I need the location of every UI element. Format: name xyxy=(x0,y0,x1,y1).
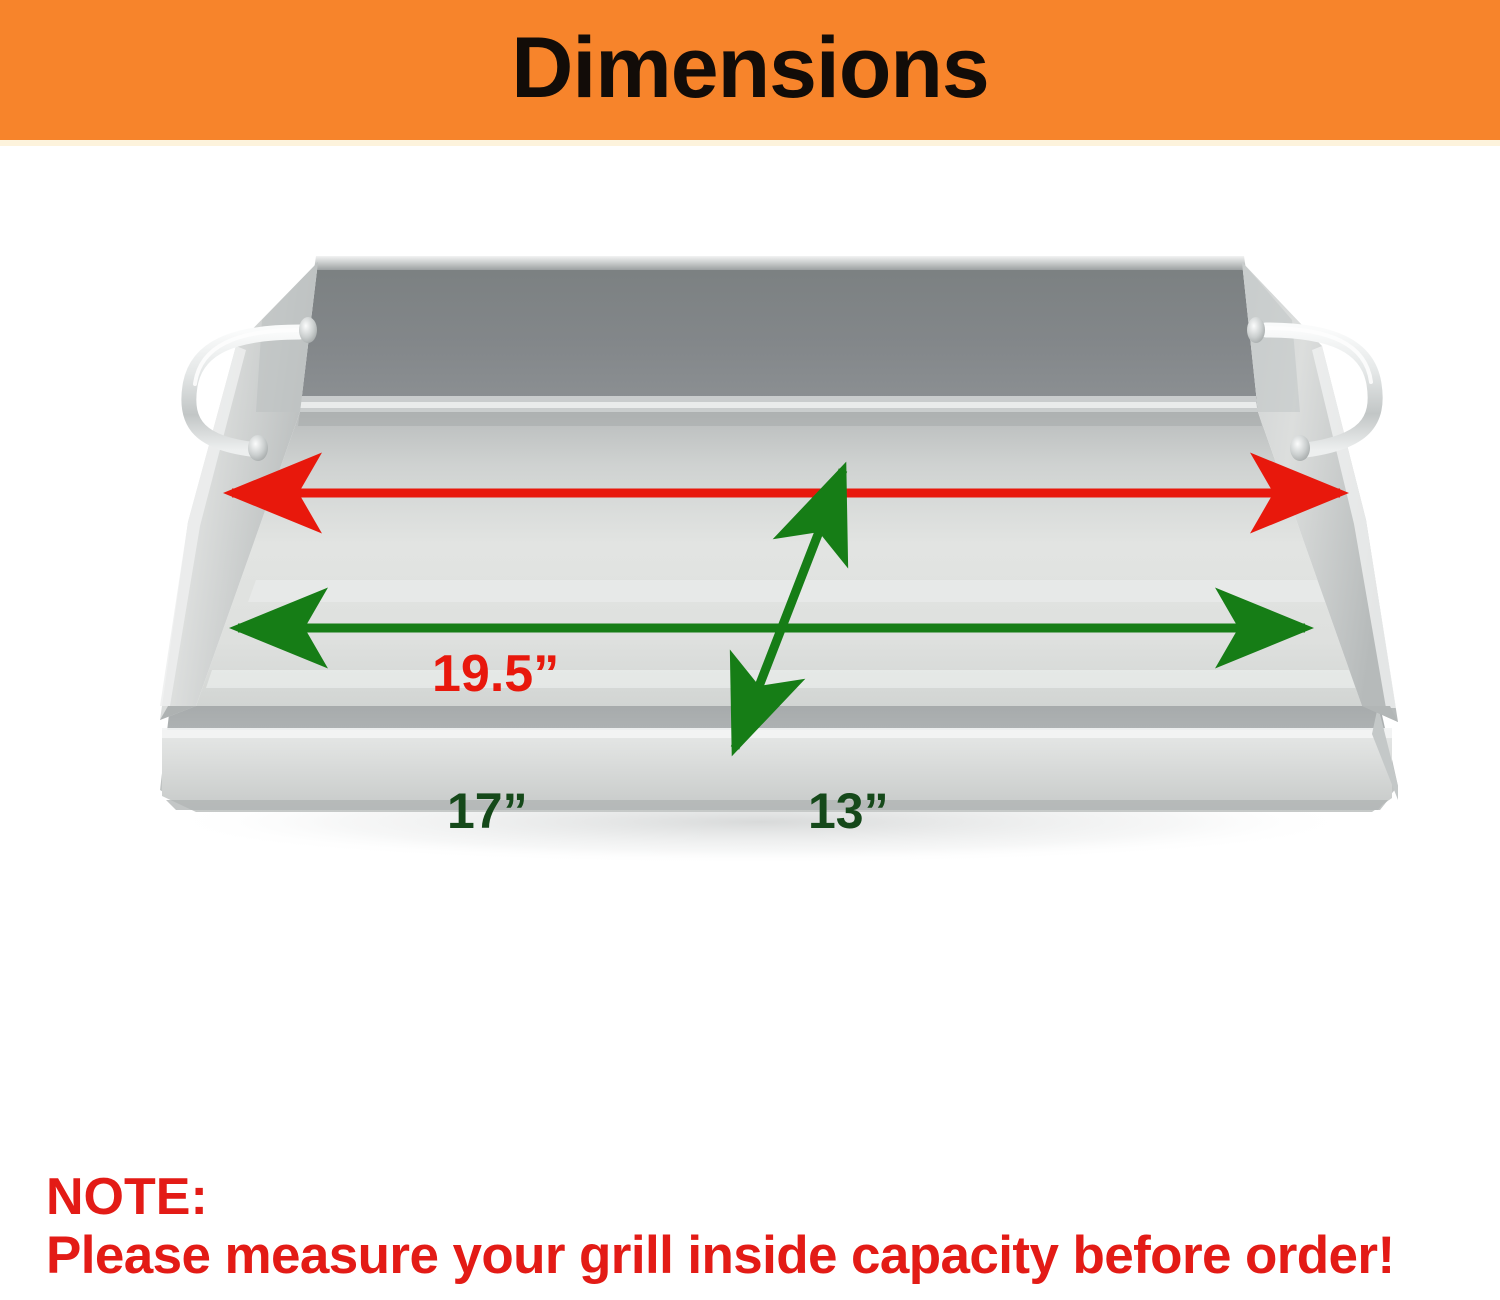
width-dimension-label: 17” xyxy=(447,786,528,836)
right-handle-rivet-bottom xyxy=(1290,435,1310,461)
left-handle-rivet-bottom xyxy=(248,435,268,461)
product-image-stage: 19.5” 17” 13” xyxy=(0,150,1500,1150)
header-underline-divider xyxy=(0,140,1500,146)
note-block: NOTE: Please measure your grill inside c… xyxy=(46,1168,1466,1286)
griddle-cooking-surface xyxy=(196,412,1362,706)
depth-dimension-label: 13” xyxy=(808,786,889,836)
note-heading: NOTE: xyxy=(46,1168,1466,1226)
header-banner: Dimensions xyxy=(0,0,1500,140)
griddle-front-trough xyxy=(160,706,1398,812)
right-handle-rivet-top xyxy=(1247,317,1265,343)
note-body-text: Please measure your grill inside capacit… xyxy=(46,1226,1466,1285)
page-title: Dimensions xyxy=(511,25,988,111)
griddle-back-wall xyxy=(300,256,1258,412)
left-handle-rivet-top xyxy=(299,317,317,343)
griddle-product-illustration xyxy=(0,150,1500,1150)
length-dimension-label: 19.5” xyxy=(432,648,559,700)
